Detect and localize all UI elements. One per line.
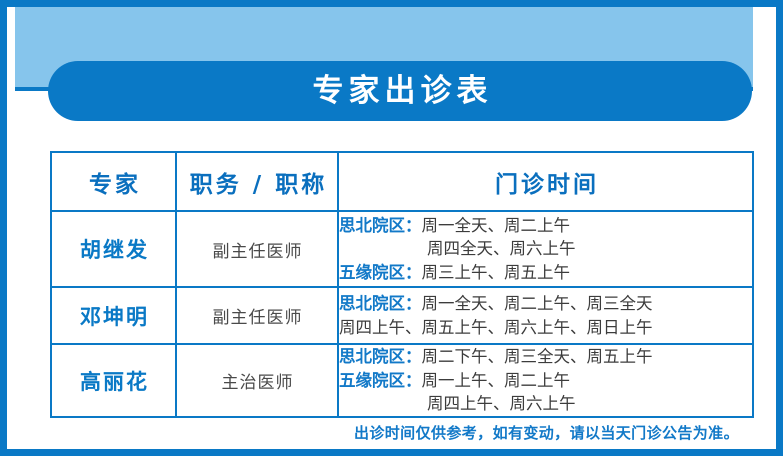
page-title: 专家出诊表 xyxy=(308,76,493,107)
column-header-position: 职务 / 职称 xyxy=(176,152,338,211)
poster-root: 专家出诊表 专家 职务 / 职称 门诊时间 胡继发 副主任医师 思北院区：周一全… xyxy=(0,0,783,456)
disclaimer-note: 出诊时间仅供参考，如有变动，请以当天门诊公告为准。 xyxy=(354,422,739,443)
schedule-line: 五缘院区：周三上午、周五上午 xyxy=(339,261,752,284)
expert-name: 胡继发 xyxy=(51,211,176,287)
campus-label: 思北院区： xyxy=(339,294,422,313)
schedule-times: 周二下午、周三全天、周五上午 xyxy=(422,347,653,366)
table-header-row: 专家 职务 / 职称 门诊时间 xyxy=(51,152,753,211)
column-header-expert: 专家 xyxy=(51,152,176,211)
campus-label: 思北院区： xyxy=(339,216,422,235)
schedule-times: 周四全天、周六上午 xyxy=(427,239,576,258)
clinic-time-cell: 思北院区：周一全天、周二上午 周四全天、周六上午 五缘院区：周三上午、周五上午 xyxy=(338,211,753,287)
expert-position: 主治医师 xyxy=(176,344,338,417)
campus-label: 五缘院区： xyxy=(339,263,422,282)
schedule-times: 周一全天、周二上午 xyxy=(422,216,571,235)
title-banner: 专家出诊表 xyxy=(48,61,752,121)
expert-position: 副主任医师 xyxy=(176,211,338,287)
campus-label: 思北院区： xyxy=(339,347,422,366)
schedule-times: 周三上午、周五上午 xyxy=(422,263,571,282)
schedule-line: 周四上午、周五上午、周六上午、周日上午 xyxy=(339,316,752,339)
campus-label: 五缘院区： xyxy=(339,371,422,390)
schedule-line: 周四上午、周六上午 xyxy=(339,392,752,415)
clinic-time-cell: 思北院区：周一全天、周二上午、周三全天 周四上午、周五上午、周六上午、周日上午 xyxy=(338,287,753,344)
schedule-times: 周四上午、周五上午、周六上午、周日上午 xyxy=(339,318,653,337)
table-body: 胡继发 副主任医师 思北院区：周一全天、周二上午 周四全天、周六上午 五缘院区：… xyxy=(51,211,753,417)
expert-name: 高丽花 xyxy=(51,344,176,417)
schedule-line: 思北院区：周二下午、周三全天、周五上午 xyxy=(339,345,752,368)
expert-schedule-table: 专家 职务 / 职称 门诊时间 胡继发 副主任医师 思北院区：周一全天、周二上午… xyxy=(50,151,754,418)
column-header-clinic-time: 门诊时间 xyxy=(338,152,753,211)
schedule-line: 思北院区：周一全天、周二上午 xyxy=(339,214,752,237)
clinic-time-cell: 思北院区：周二下午、周三全天、周五上午 五缘院区：周一上午、周二上午 周四上午、… xyxy=(338,344,753,417)
schedule-times: 周一上午、周二上午 xyxy=(422,371,571,390)
schedule-line: 思北院区：周一全天、周二上午、周三全天 xyxy=(339,292,752,315)
expert-name: 邓坤明 xyxy=(51,287,176,344)
expert-position: 副主任医师 xyxy=(176,287,338,344)
table-row: 胡继发 副主任医师 思北院区：周一全天、周二上午 周四全天、周六上午 五缘院区：… xyxy=(51,211,753,287)
table-row: 高丽花 主治医师 思北院区：周二下午、周三全天、周五上午 五缘院区：周一上午、周… xyxy=(51,344,753,417)
schedule-times: 周四上午、周六上午 xyxy=(427,394,576,413)
schedule-line: 五缘院区：周一上午、周二上午 xyxy=(339,369,752,392)
schedule-line: 周四全天、周六上午 xyxy=(339,237,752,260)
schedule-times: 周一全天、周二上午、周三全天 xyxy=(422,294,653,313)
table-row: 邓坤明 副主任医师 思北院区：周一全天、周二上午、周三全天 周四上午、周五上午、… xyxy=(51,287,753,344)
